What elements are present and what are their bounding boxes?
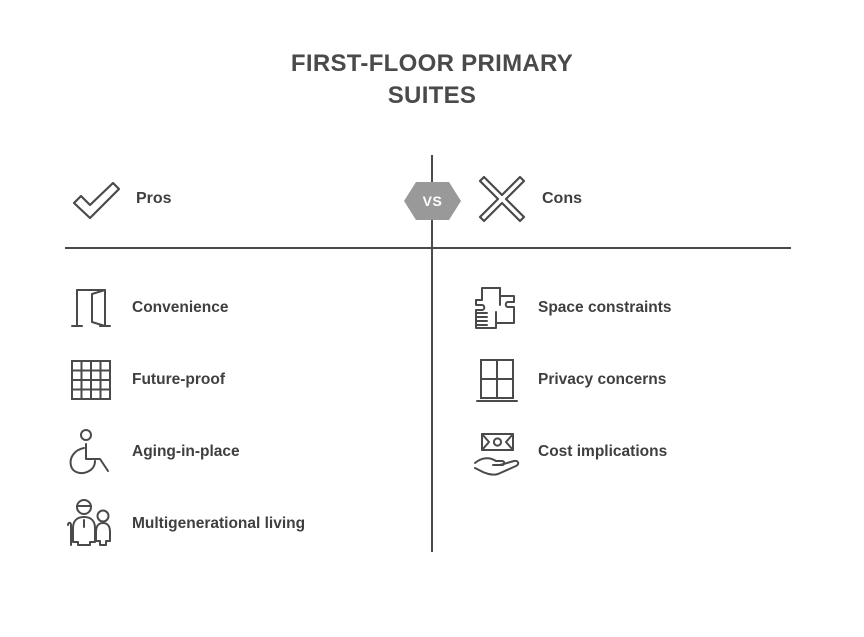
list-item: Future-proof [64,344,434,416]
horizontal-divider [65,247,791,249]
pros-header: Pros [70,172,172,226]
hand-holding-money-icon [470,425,524,479]
list-item: Privacy concerns [470,344,840,416]
list-item-label: Future-proof [132,371,225,389]
cons-heading-label: Cons [542,190,582,208]
floor-plan-icon [470,281,524,335]
list-item: Multigenerational living [64,488,434,560]
page-title: FIRST-FLOOR PRIMARY SUITES [0,48,864,112]
wheelchair-accessibility-icon [64,425,118,479]
window-icon [470,353,524,407]
pros-heading-label: Pros [136,190,172,208]
pros-list: Convenience Future-proof [64,272,434,560]
list-item-label: Convenience [132,299,228,317]
list-item-label: Multigenerational living [132,515,305,533]
vs-badge: VS [404,182,461,220]
family-generations-icon [64,497,118,551]
infographic-canvas: FIRST-FLOOR PRIMARY SUITES VS Pros Cons [0,0,864,637]
cons-header: Cons [476,172,582,226]
checkmark-icon [70,173,122,225]
list-item: Cost implications [470,416,840,488]
cons-list: Space constraints Privacy concerns [470,272,840,488]
list-item: Aging-in-place [64,416,434,488]
list-item-label: Cost implications [538,443,667,461]
list-item-label: Aging-in-place [132,443,240,461]
list-item-label: Space constraints [538,299,672,317]
vs-label: VS [404,182,461,220]
cross-x-icon [476,173,528,225]
list-item: Space constraints [470,272,840,344]
list-item-label: Privacy concerns [538,371,666,389]
vertical-divider-top [431,155,433,183]
list-item: Convenience [64,272,434,344]
open-door-icon [64,281,118,335]
grid-mesh-icon [64,353,118,407]
